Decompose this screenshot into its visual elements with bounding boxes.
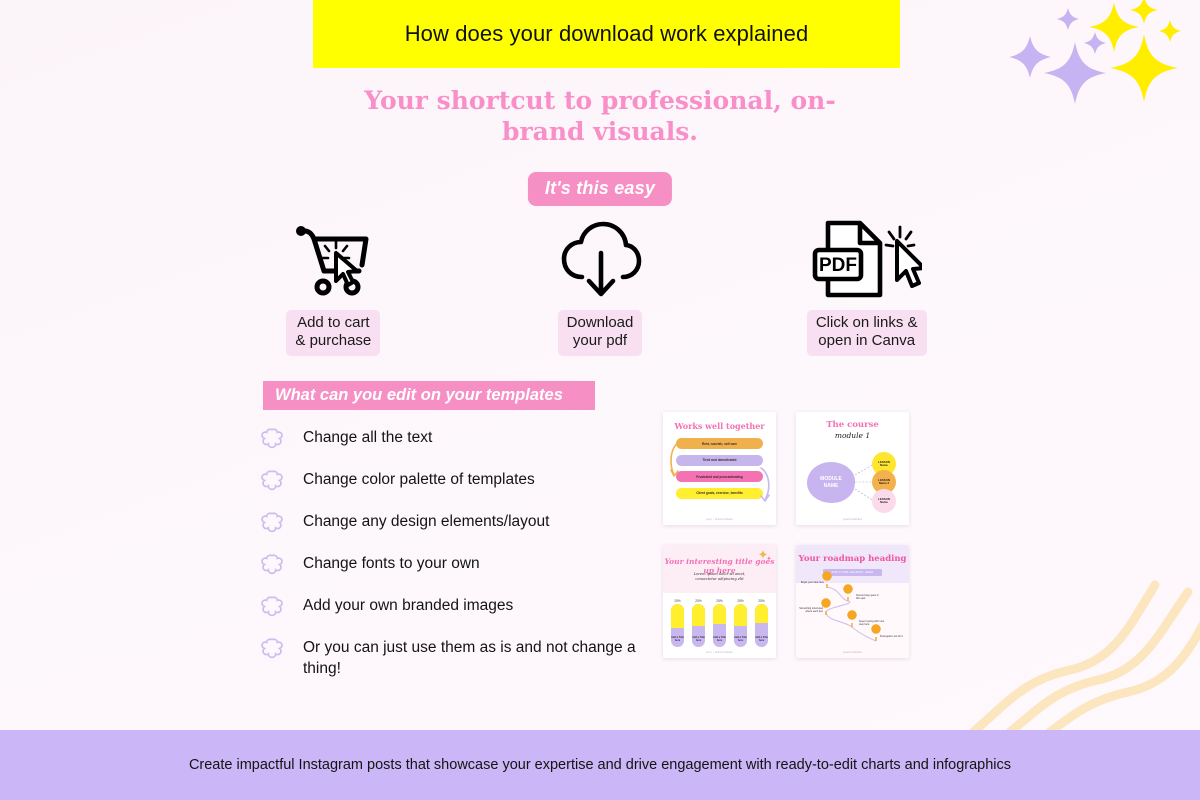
- thumbnail-works-well-together[interactable]: Works well together Rest, nourish, self …: [663, 412, 776, 525]
- step-download-pdf: Download your pdf: [467, 216, 734, 356]
- flower-bullet-icon: [261, 426, 291, 452]
- bottom-banner: Create impactful Instagram posts that sh…: [0, 730, 1200, 800]
- bar-shape: Add a Title here: [692, 604, 705, 647]
- bar-label: Add a Title here: [713, 636, 726, 642]
- thumbnail-credit: your - brand follows: [663, 651, 776, 654]
- poster-canvas: How does your download work explained Yo…: [0, 0, 1200, 800]
- lesson-node-label: LESSON Name: [878, 461, 890, 468]
- page-title-bar: How does your download work explained: [313, 0, 900, 68]
- thumbnail-roadmap[interactable]: Your roadmap heading ADD A SUB HEADING H…: [796, 545, 909, 658]
- shopping-cart-click-icon: [291, 216, 375, 301]
- curved-arrow-icon: [667, 438, 683, 480]
- roadmap-node-label: Keep it going with next step here: [859, 620, 885, 626]
- bottom-banner-text: Create impactful Instagram posts that sh…: [189, 757, 1011, 773]
- bar-group: 25% Add a Title here 25% Add a Title her…: [671, 599, 768, 647]
- edit-section-header-label: What can you edit on your templates: [263, 386, 563, 405]
- thumbnail-title: Works well together: [663, 421, 776, 431]
- thumbnail-bar-chart[interactable]: Your interesting title goes up here Lore…: [663, 545, 776, 658]
- flower-bullet-icon: [261, 510, 291, 536]
- roadmap-node-label: Begin your idea here: [800, 581, 824, 584]
- bar-shape: Add a Title here: [671, 604, 684, 647]
- wave-decoration: [950, 530, 1200, 730]
- list-item: Change color palette of templates: [261, 470, 641, 494]
- bar-shape: Add a Title here: [713, 604, 726, 647]
- flower-bullet-icon: [261, 552, 291, 578]
- list-item-label: Change all the text: [291, 428, 432, 449]
- subtitle-line-2: brand visuals.: [0, 117, 1200, 148]
- bar-label: Add a Title here: [671, 636, 684, 642]
- thumbnail-course-module[interactable]: The course module 1 MODULE NAME LESSON N…: [796, 412, 909, 525]
- bar-percent: 25%: [674, 599, 680, 603]
- lesson-node-label: LESSON Name: [878, 498, 890, 505]
- bar-column: 25% Add a Title here: [692, 599, 705, 648]
- module-blob: MODULE NAME: [807, 462, 855, 503]
- svg-text:PDF: PDF: [819, 255, 857, 276]
- list-item-label: Change color palette of templates: [291, 470, 535, 491]
- its-this-easy-badge: It's this easy: [528, 172, 672, 206]
- bar-percent: 25%: [695, 599, 701, 603]
- subtitle-line-1: Your shortcut to professional, on-: [0, 86, 1200, 117]
- lesson-node-label: LESSON Name 2: [878, 479, 890, 486]
- pdf-file-click-icon: PDF: [812, 216, 922, 301]
- bar-label: Add a Title here: [692, 636, 705, 642]
- bar-shape: Add a Title here: [755, 604, 768, 647]
- flower-bullet-icon: [261, 636, 291, 662]
- list-item-label: Change any design elements/layout: [291, 512, 549, 533]
- edit-section-header: What can you edit on your templates: [263, 381, 595, 410]
- thumbnail-credit: yourbrandhere: [796, 518, 909, 521]
- bar-percent: 25%: [737, 599, 743, 603]
- lesson-node: LESSON Name: [872, 489, 896, 513]
- edit-feature-list: Change all the text Change color palette…: [261, 428, 641, 680]
- step-label: Click on links & open in Canva: [807, 310, 927, 357]
- flower-bullet-icon: [261, 468, 291, 494]
- thumbnail-credit: yourbrandhere: [796, 651, 909, 654]
- map-pin-icon: [822, 572, 880, 641]
- bar-column: 25% Add a Title here: [671, 599, 684, 648]
- thumbnail-lorem: Lorem ipsum dolor sit amet, consectetur …: [663, 572, 776, 583]
- list-item: Change any design elements/layout: [261, 512, 641, 536]
- cloud-download-icon: [558, 216, 642, 301]
- pill-item: Frustrated and procrastinating: [676, 471, 763, 482]
- steps-row: Add to cart & purchase Download your pdf: [200, 216, 1000, 356]
- list-item: Add your own branded images: [261, 596, 641, 620]
- flower-bullet-icon: [261, 594, 291, 620]
- page-title: How does your download work explained: [405, 21, 809, 47]
- list-item-label: Or you can just use them as is and not c…: [291, 638, 641, 680]
- bar-label: Add a Title here: [755, 636, 768, 642]
- list-item-label: Change fonts to your own: [291, 554, 480, 575]
- bar-label: Add a Title here: [734, 636, 747, 642]
- subtitle: Your shortcut to professional, on- brand…: [0, 86, 1200, 147]
- step-label: Download your pdf: [558, 310, 643, 357]
- step-add-to-cart: Add to cart & purchase: [200, 216, 467, 356]
- step-label: Add to cart & purchase: [286, 310, 380, 357]
- bar-column: 25% Add a Title here: [734, 599, 747, 648]
- pill-item: Client goals, exercise, benefits: [676, 488, 763, 499]
- thumbnail-credit: your - brand follows: [663, 518, 776, 521]
- bar-percent: 25%: [758, 599, 764, 603]
- list-item-label: Add your own branded images: [291, 596, 513, 617]
- list-item: Change all the text: [261, 428, 641, 452]
- bar-column: 25% Add a Title here: [713, 599, 726, 648]
- roadmap-path: [796, 545, 909, 658]
- pill-stack: Rest, nourish, self care Tired and demot…: [676, 438, 763, 499]
- pill-item: Tired and demotivated: [676, 455, 763, 466]
- curved-arrow-icon: [757, 465, 773, 505]
- step-open-in-canva: PDF Click on links & open in Canva: [733, 216, 1000, 356]
- bar-percent: 25%: [716, 599, 722, 603]
- roadmap-node-label: Second step goes in this spot: [856, 594, 882, 600]
- module-blob-label: MODULE NAME: [820, 476, 842, 489]
- list-item: Change fonts to your own: [261, 554, 641, 578]
- roadmap-node-label: Final goal is set for it: [880, 635, 906, 638]
- template-thumbnail-grid: Works well together Rest, nourish, self …: [663, 412, 918, 670]
- roadmap-node-label: Something structured where each text: [798, 607, 823, 613]
- list-item: Or you can just use them as is and not c…: [261, 638, 641, 680]
- pill-item: Rest, nourish, self care: [676, 438, 763, 449]
- bar-shape: Add a Title here: [734, 604, 747, 647]
- bar-column: 25% Add a Title here: [755, 599, 768, 648]
